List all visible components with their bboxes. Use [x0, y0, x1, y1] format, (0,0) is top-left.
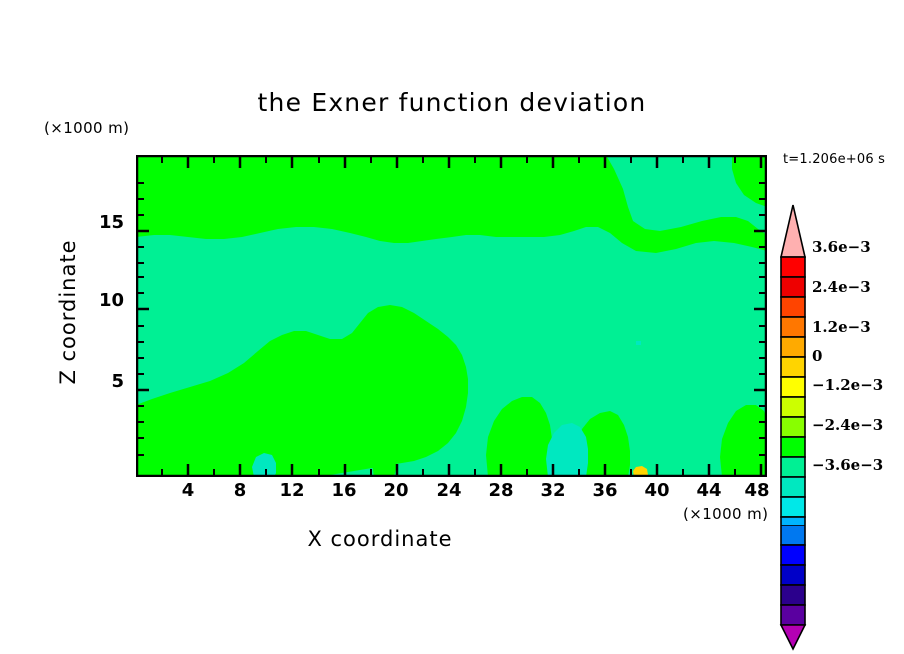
x-tick-label: 12: [272, 480, 312, 501]
x-tick-label: 36: [585, 480, 625, 501]
colorbar-tick-label: 0: [812, 347, 822, 365]
contour-field: [136, 155, 767, 477]
colorbar-tick-label: 2.4e−3: [812, 278, 871, 296]
y-tick-label: 15: [96, 212, 124, 233]
colorbar-tick-label: 3.6e−3: [812, 238, 871, 256]
x-tick-label: 8: [220, 480, 260, 501]
x-tick-label: 44: [689, 480, 729, 501]
y-tick-label: 5: [96, 371, 124, 392]
y-axis-units-label: (×1000 m): [44, 119, 129, 137]
colorbar-tick-label: 1.2e−3: [812, 318, 871, 336]
contour-plot-area: [136, 155, 767, 477]
x-axis-title: X coordinate: [0, 527, 760, 551]
x-tick-label: 20: [376, 480, 416, 501]
page-title: the Exner function deviation: [0, 88, 904, 117]
x-tick-label: 40: [637, 480, 677, 501]
x-tick-label: 32: [533, 480, 573, 501]
x-tick-label: 48: [737, 480, 777, 501]
x-tick-label: 16: [324, 480, 364, 501]
colorbar: [778, 203, 812, 525]
x-axis-units-label: (×1000 m): [683, 505, 768, 523]
x-tick-label: 28: [481, 480, 521, 501]
x-tick-label: 24: [429, 480, 469, 501]
colorbar-tick-label: −1.2e−3: [812, 376, 883, 394]
colorbar-extend-min-arrow: [781, 625, 805, 649]
time-stamp-label: t=1.206e+06 s: [783, 152, 885, 167]
y-tick-label: 10: [96, 290, 124, 311]
colorbar-bands-lower: [781, 525, 805, 625]
colorbar-tick-label: −2.4e−3: [812, 416, 883, 434]
colorbar-lower: [778, 525, 812, 651]
colorbar-tick-label: −3.6e−3: [812, 456, 883, 474]
colorbar-bands: [781, 257, 805, 525]
x-tick-label: 4: [168, 480, 208, 501]
colorbar-extend-max-arrow: [781, 205, 805, 257]
y-axis-title: Z coordinate: [56, 202, 80, 422]
